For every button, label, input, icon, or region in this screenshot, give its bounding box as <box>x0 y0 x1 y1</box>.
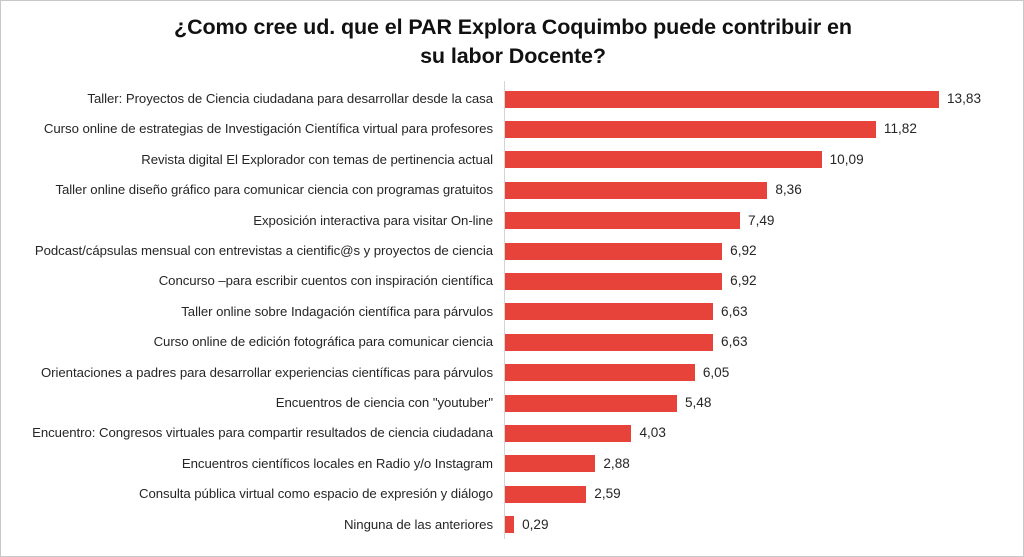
bar-value-label: 6,63 <box>721 297 747 327</box>
bar-row: Taller online sobre Indagación científic… <box>1 297 1024 327</box>
bar-value-label: 6,92 <box>730 266 756 296</box>
bar-value-label: 6,92 <box>730 236 756 266</box>
bar-row: Podcast/cápsulas mensual con entrevistas… <box>1 236 1024 266</box>
bar[interactable] <box>505 516 514 533</box>
bar-row: Encuentro: Congresos virtuales para comp… <box>1 418 1024 448</box>
bar-row: Ninguna de las anteriores0,29 <box>1 510 1024 540</box>
bar-row: Orientaciones a padres para desarrollar … <box>1 358 1024 388</box>
bar-row: Concurso –para escribir cuentos con insp… <box>1 266 1024 296</box>
category-label-text: Taller online diseño gráfico para comuni… <box>55 175 493 205</box>
category-label-text: Ninguna de las anteriores <box>344 510 493 540</box>
category-label-text: Curso online de estrategias de Investiga… <box>44 114 493 144</box>
bar-row: Revista digital El Explorador con temas … <box>1 145 1024 175</box>
bar-value-label: 11,82 <box>884 114 917 144</box>
bar-row: Curso online de estrategias de Investiga… <box>1 114 1024 144</box>
category-label-text: Exposición interactiva para visitar On-l… <box>253 206 493 236</box>
chart-title: ¿Como cree ud. que el PAR Explora Coquim… <box>61 13 965 70</box>
bar[interactable] <box>505 425 631 442</box>
bar-row: Encuentros de ciencia con "youtuber"5,48 <box>1 388 1024 418</box>
bar-value-label: 6,05 <box>703 358 729 388</box>
bar[interactable] <box>505 334 713 351</box>
category-label-text: Encuentro: Congresos virtuales para comp… <box>32 418 493 448</box>
bar-value-label: 8,36 <box>775 175 801 205</box>
category-label-text: Encuentros científicos locales en Radio … <box>182 449 493 479</box>
bar[interactable] <box>505 364 695 381</box>
category-label-text: Revista digital El Explorador con temas … <box>141 145 493 175</box>
category-label-text: Curso online de edición fotográfica para… <box>154 327 493 357</box>
bar-value-label: 7,49 <box>748 206 774 236</box>
bar-row: Taller: Proyectos de Ciencia ciudadana p… <box>1 84 1024 114</box>
bar-row: Exposición interactiva para visitar On-l… <box>1 206 1024 236</box>
category-label-text: Taller online sobre Indagación científic… <box>181 297 493 327</box>
bar-row: Encuentros científicos locales en Radio … <box>1 449 1024 479</box>
chart-title-line-2: su labor Docente? <box>420 44 606 68</box>
bar-value-label: 0,29 <box>522 510 548 540</box>
category-label-text: Orientaciones a padres para desarrollar … <box>41 358 493 388</box>
category-label-text: Podcast/cápsulas mensual con entrevistas… <box>35 236 493 266</box>
bar-chart-figure: ¿Como cree ud. que el PAR Explora Coquim… <box>0 0 1024 557</box>
chart-title-line-1: ¿Como cree ud. que el PAR Explora Coquim… <box>174 15 852 39</box>
bar-value-label: 2,88 <box>603 449 629 479</box>
bar-row: Curso online de edición fotográfica para… <box>1 327 1024 357</box>
bar[interactable] <box>505 395 677 412</box>
bar[interactable] <box>505 455 595 472</box>
bar-value-label: 10,09 <box>830 145 864 175</box>
bar[interactable] <box>505 273 722 290</box>
category-label-text: Consulta pública virtual como espacio de… <box>139 479 493 509</box>
plot-area: Taller: Proyectos de Ciencia ciudadana p… <box>1 81 1024 541</box>
bar-value-label: 6,63 <box>721 327 747 357</box>
bar[interactable] <box>505 212 740 229</box>
bar[interactable] <box>505 243 722 260</box>
category-label-text: Taller: Proyectos de Ciencia ciudadana p… <box>87 84 493 114</box>
bar-row: Taller online diseño gráfico para comuni… <box>1 175 1024 205</box>
bar[interactable] <box>505 303 713 320</box>
bar-value-label: 13,83 <box>947 84 981 114</box>
bar[interactable] <box>505 121 876 138</box>
category-label-text: Encuentros de ciencia con "youtuber" <box>276 388 493 418</box>
bar[interactable] <box>505 91 939 108</box>
bar-value-label: 2,59 <box>594 479 620 509</box>
bar[interactable] <box>505 182 767 199</box>
bar-row: Consulta pública virtual como espacio de… <box>1 479 1024 509</box>
bar[interactable] <box>505 151 822 168</box>
bar-value-label: 5,48 <box>685 388 711 418</box>
bar[interactable] <box>505 486 586 503</box>
category-label-text: Concurso –para escribir cuentos con insp… <box>159 266 493 296</box>
bar-value-label: 4,03 <box>639 418 665 448</box>
